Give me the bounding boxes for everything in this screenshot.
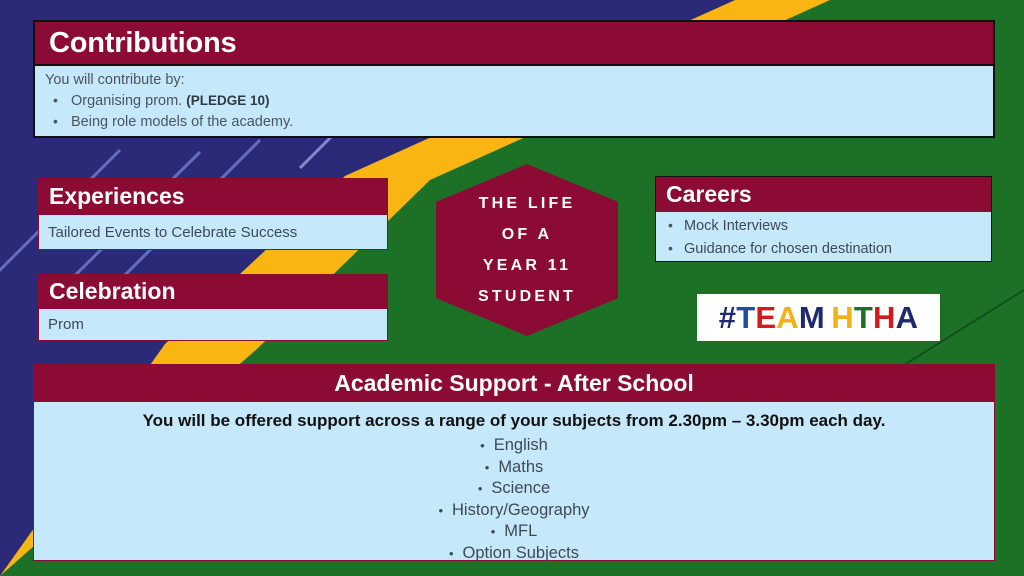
academic-support-header: Academic Support - After School xyxy=(34,365,994,401)
careers-header: Careers xyxy=(656,177,991,212)
bullet-icon: • xyxy=(660,237,684,259)
bullet-icon: • xyxy=(480,438,485,453)
subject-label: Option Subjects xyxy=(463,544,579,562)
academic-support-card: Academic Support - After School You will… xyxy=(33,364,995,561)
bullet-icon: • xyxy=(491,524,496,539)
hexagon-line: STUDENT xyxy=(478,281,576,312)
experiences-card: Experiences Tailored Events to Celebrate… xyxy=(38,178,388,250)
subject-list-item: •History/Geography xyxy=(34,500,994,522)
contributions-header: Contributions xyxy=(35,22,993,66)
academic-support-lead: You will be offered support across a ran… xyxy=(34,411,994,431)
careers-list-item: • Guidance for chosen destination xyxy=(660,237,991,260)
logo-letter-0: # xyxy=(719,300,736,335)
subject-label: History/Geography xyxy=(452,501,590,519)
contributions-list-item: • Organising prom. (PLEDGE 10) xyxy=(45,90,993,111)
careers-list-item: • Mock Interviews xyxy=(660,214,991,237)
subject-list-item: •MFL xyxy=(34,521,994,543)
bullet-icon: • xyxy=(478,481,483,496)
bullet-icon: • xyxy=(438,503,443,518)
celebration-title: Celebration xyxy=(49,278,176,305)
subject-list-item: •Option Subjects xyxy=(34,543,994,565)
logo-letter-9: A xyxy=(896,300,919,335)
celebration-header: Celebration xyxy=(38,274,388,309)
logo-letter-2: E xyxy=(755,300,776,335)
celebration-body: Prom xyxy=(38,309,388,341)
contributions-item-text: Organising prom. (PLEDGE 10) xyxy=(71,91,270,111)
logo-letter-7: T xyxy=(854,300,873,335)
slide-canvas: Contributions You will contribute by: • … xyxy=(0,0,1024,576)
subject-label: MFL xyxy=(504,522,537,540)
academic-support-body: You will be offered support across a ran… xyxy=(34,401,994,560)
logo-letter-1: T xyxy=(736,300,755,335)
subject-label: Maths xyxy=(498,458,543,476)
subject-list-item: •English xyxy=(34,435,994,457)
careers-title: Careers xyxy=(666,181,752,208)
subject-list-item: •Maths xyxy=(34,457,994,479)
contributions-intro: You will contribute by: xyxy=(45,70,993,90)
celebration-card: Celebration Prom xyxy=(38,274,388,341)
logo-letter-4: M xyxy=(799,300,825,335)
subject-list: •English•Maths•Science•History/Geography… xyxy=(34,435,994,564)
pledge-badge: (PLEDGE 10) xyxy=(186,93,269,108)
contributions-card: Contributions You will contribute by: • … xyxy=(33,20,995,138)
careers-body: • Mock Interviews • Guidance for chosen … xyxy=(656,212,991,261)
hexagon-line: THE LIFE xyxy=(479,188,576,219)
subject-label: Science xyxy=(491,479,550,497)
logo-letter-6: H xyxy=(831,300,854,335)
bullet-icon: • xyxy=(660,214,684,236)
hexagon-line: OF A xyxy=(502,219,552,250)
academic-support-title: Academic Support - After School xyxy=(334,370,694,397)
bullet-icon: • xyxy=(45,90,71,110)
hexagon-line: YEAR 11 xyxy=(483,250,571,281)
contributions-body: You will contribute by: • Organising pro… xyxy=(35,66,993,136)
subject-label: English xyxy=(494,436,548,454)
experiences-header: Experiences xyxy=(38,178,388,215)
bullet-icon: • xyxy=(449,546,454,561)
bullet-icon: • xyxy=(485,460,490,475)
logo-letter-8: H xyxy=(873,300,896,335)
subject-list-item: •Science xyxy=(34,478,994,500)
contributions-title: Contributions xyxy=(49,27,236,60)
team-htha-logo: #TEAM HTHA xyxy=(697,294,940,341)
careers-item-text: Mock Interviews xyxy=(684,215,788,237)
bullet-icon: • xyxy=(45,111,71,131)
careers-item-text: Guidance for chosen destination xyxy=(684,238,892,260)
experiences-title: Experiences xyxy=(49,183,185,210)
team-htha-logo-text: #TEAM HTHA xyxy=(719,300,918,336)
contributions-list-item: • Being role models of the academy. xyxy=(45,111,993,132)
careers-card: Careers • Mock Interviews • Guidance for… xyxy=(655,176,992,262)
logo-letter-3: A xyxy=(776,300,799,335)
experiences-body: Tailored Events to Celebrate Success xyxy=(38,215,388,250)
contributions-item-text: Being role models of the academy. xyxy=(71,112,293,132)
